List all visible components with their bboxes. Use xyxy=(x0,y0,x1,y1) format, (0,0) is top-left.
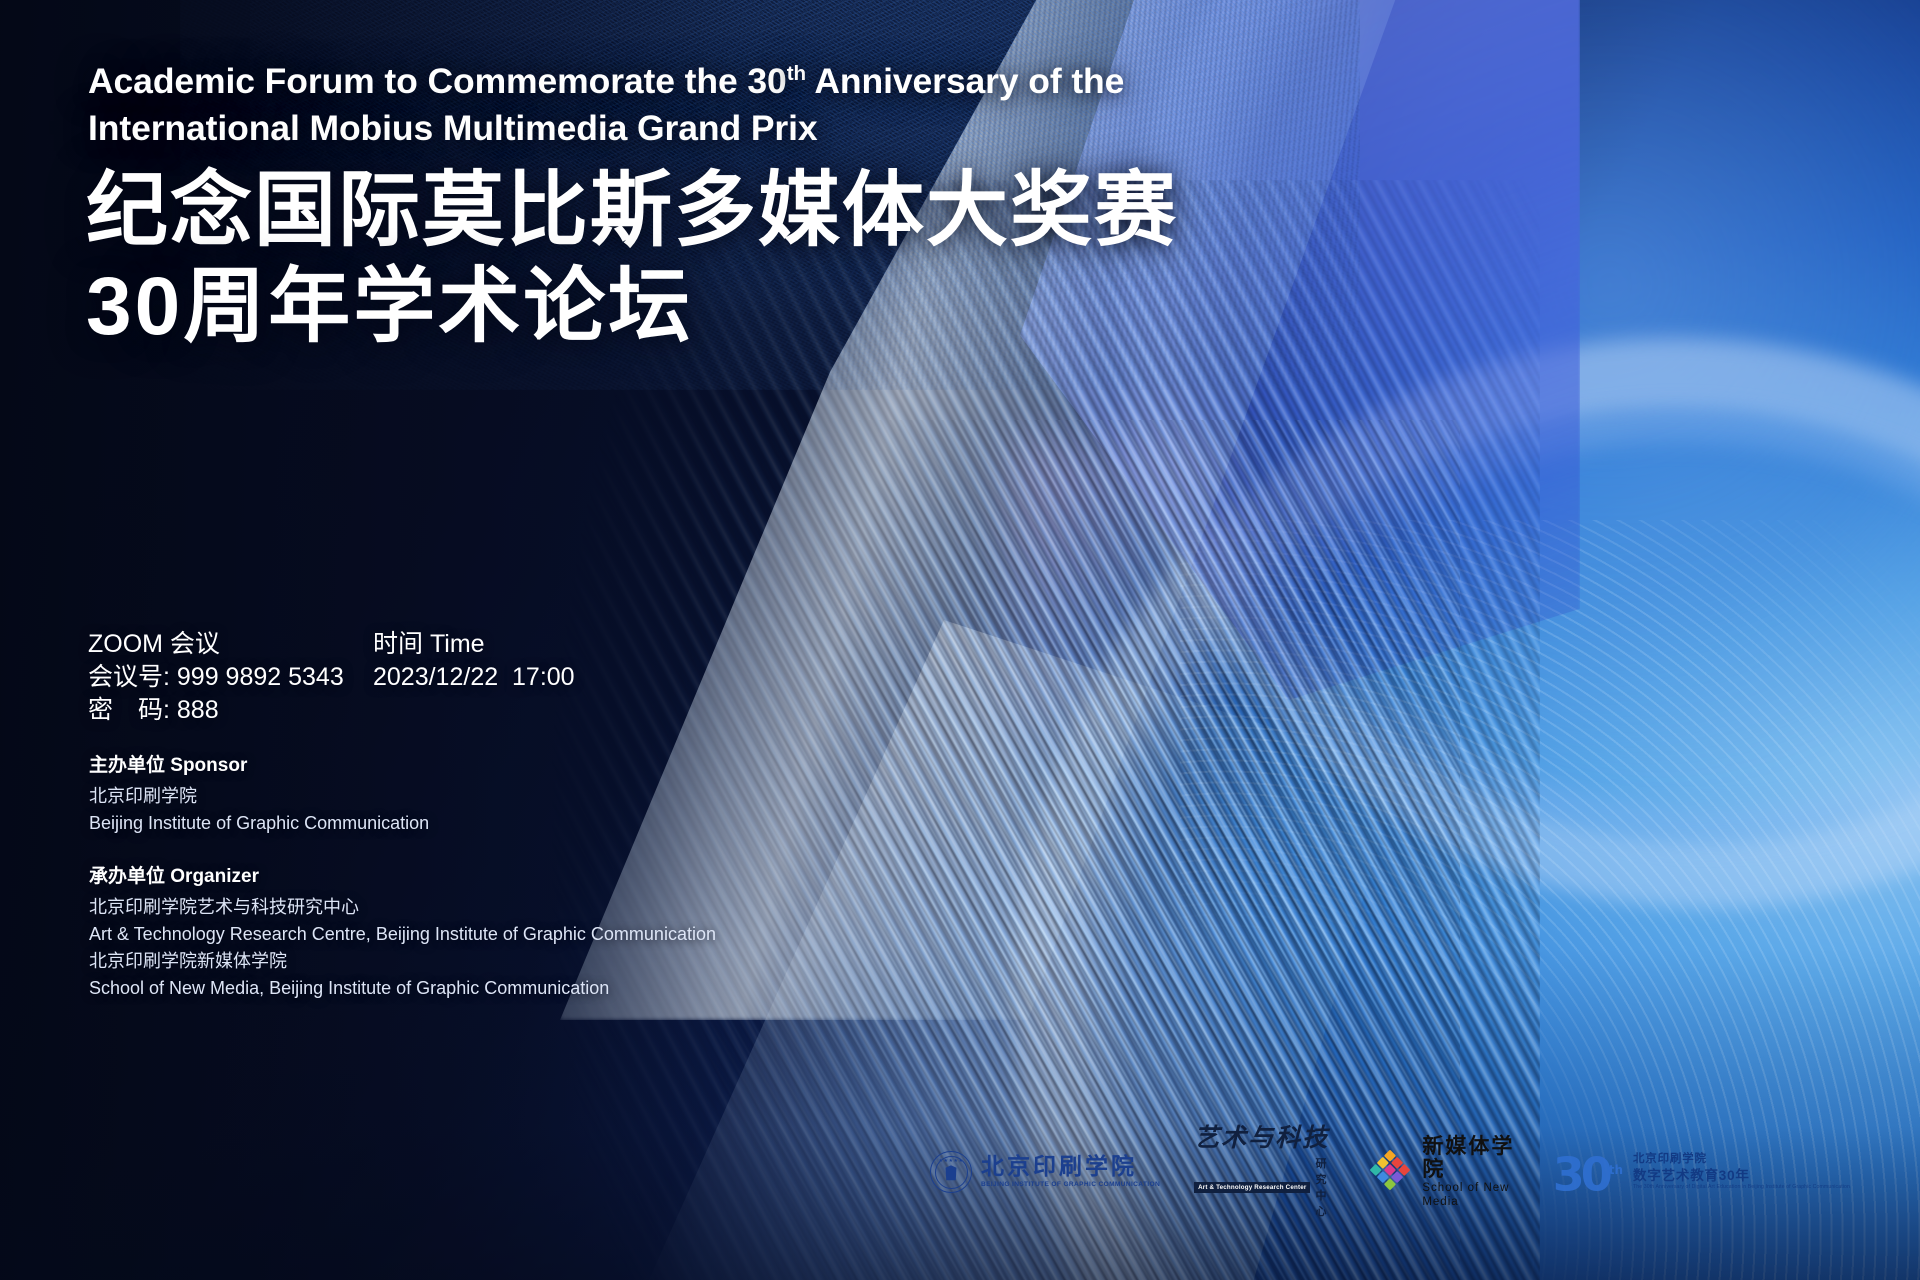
anniversary-numeral: 30th xyxy=(1553,1147,1623,1197)
meeting-info: ZOOM 会议 会议号: 999 9892 5343 密 码: 888 时间 T… xyxy=(88,628,575,727)
seal-stars-icon: ★★★★★ xyxy=(939,1158,964,1164)
organizer-line: 北京印刷学院新媒体学院 xyxy=(89,948,716,975)
meeting-zoom-column: ZOOM 会议 会议号: 999 9892 5343 密 码: 888 xyxy=(88,628,373,727)
poster-canvas: Academic Forum to Commemorate the 30th A… xyxy=(0,0,1920,1280)
sponsor-line: 北京印刷学院 xyxy=(89,783,716,810)
time-heading: 时间 Time xyxy=(373,628,575,661)
credits: 主办单位 Sponsor 北京印刷学院 Beijing Institute of… xyxy=(89,752,716,1028)
zoom-meeting-id: 会议号: 999 9892 5343 xyxy=(88,661,373,694)
anniversary-line3: The 30th Anniversary of Digital Art Educ… xyxy=(1633,1184,1850,1192)
zoom-heading: ZOOM 会议 xyxy=(88,628,373,661)
title-english-line1-part2: Anniversary of the xyxy=(806,61,1124,101)
anniversary-ordinal: th xyxy=(1609,1163,1623,1177)
time-value: 2023/12/22 17:00 xyxy=(373,661,575,694)
title-english-line2: International Mobius Multimedia Grand Pr… xyxy=(88,108,818,148)
meeting-time-column: 时间 Time 2023/12/22 17:00 xyxy=(373,628,575,727)
logo-strip: ★★★★★ 北京印刷学院 BEIJING INSTITUTE OF GRAPHI… xyxy=(930,1134,1850,1210)
sponsor-heading: 主办单位 Sponsor xyxy=(89,752,716,780)
title-english: Academic Forum to Commemorate the 30th A… xyxy=(88,58,1318,152)
bigc-seal-icon: ★★★★★ xyxy=(930,1151,972,1193)
title-english-line1-part1: Academic Forum to Commemorate the 30 xyxy=(88,61,787,101)
bigc-name-cn: 北京印刷学院 xyxy=(981,1154,1160,1180)
new-media-name-cn: 新媒体学院 xyxy=(1422,1135,1518,1181)
anniversary-wordmark: 北京印刷学院 数字艺术教育30年 The 30th Anniversary of… xyxy=(1633,1152,1850,1192)
logo-30th-anniversary: 30th 北京印刷学院 数字艺术教育30年 The 30th Anniversa… xyxy=(1553,1147,1850,1197)
seal-emblem-icon xyxy=(943,1165,960,1180)
anniversary-line2: 数字艺术教育30年 xyxy=(1633,1167,1850,1184)
anniversary-line1: 北京印刷学院 xyxy=(1633,1152,1850,1167)
organizer-line: 北京印刷学院艺术与科技研究中心 xyxy=(89,894,716,921)
logo-bigc: ★★★★★ 北京印刷学院 BEIJING INSTITUTE OF GRAPHI… xyxy=(930,1151,1160,1193)
new-media-wordmark: 新媒体学院 School of New Media xyxy=(1422,1135,1518,1209)
credit-block-organizer: 承办单位 Organizer 北京印刷学院艺术与科技研究中心 Art & Tec… xyxy=(89,863,716,1002)
zoom-passcode: 密 码: 888 xyxy=(88,694,373,727)
title-chinese-line1: 纪念国际莫比斯多媒体大奖赛 xyxy=(86,163,1406,259)
art-tech-name-cn2: 研究中心 xyxy=(1315,1155,1334,1219)
new-media-name-en: School of New Media xyxy=(1422,1181,1518,1209)
art-tech-subline: Art & Technology Research Center 研究中心 xyxy=(1194,1155,1334,1219)
logo-school-of-new-media: 新媒体学院 School of New Media xyxy=(1368,1135,1518,1209)
organizer-line: School of New Media, Beijing Institute o… xyxy=(89,975,716,1002)
organizer-line: Art & Technology Research Centre, Beijin… xyxy=(89,921,716,948)
title-english-ordinal-suffix: th xyxy=(787,62,806,85)
sponsor-line: Beijing Institute of Graphic Communicati… xyxy=(89,810,716,837)
title-chinese-line2: 30周年学术论坛 xyxy=(86,259,1406,355)
credit-block-sponsor: 主办单位 Sponsor 北京印刷学院 Beijing Institute of… xyxy=(89,752,716,837)
bigc-wordmark: 北京印刷学院 BEIJING INSTITUTE OF GRAPHIC COMM… xyxy=(981,1154,1160,1190)
anniversary-number: 30 xyxy=(1553,1147,1609,1201)
organizer-heading: 承办单位 Organizer xyxy=(89,863,716,891)
art-tech-name-en: Art & Technology Research Center xyxy=(1194,1182,1310,1193)
title-chinese: 纪念国际莫比斯多媒体大奖赛 30周年学术论坛 xyxy=(86,163,1406,355)
new-media-diamond-icon xyxy=(1369,1150,1414,1195)
bigc-name-en: BEIJING INSTITUTE OF GRAPHIC COMMUNICATI… xyxy=(981,1180,1160,1190)
logo-art-tech-research-centre: 艺术与科技 Art & Technology Research Center 研… xyxy=(1194,1125,1334,1219)
art-tech-name-cn: 艺术与科技 xyxy=(1194,1125,1334,1153)
poster-content: Academic Forum to Commemorate the 30th A… xyxy=(0,0,1920,1280)
